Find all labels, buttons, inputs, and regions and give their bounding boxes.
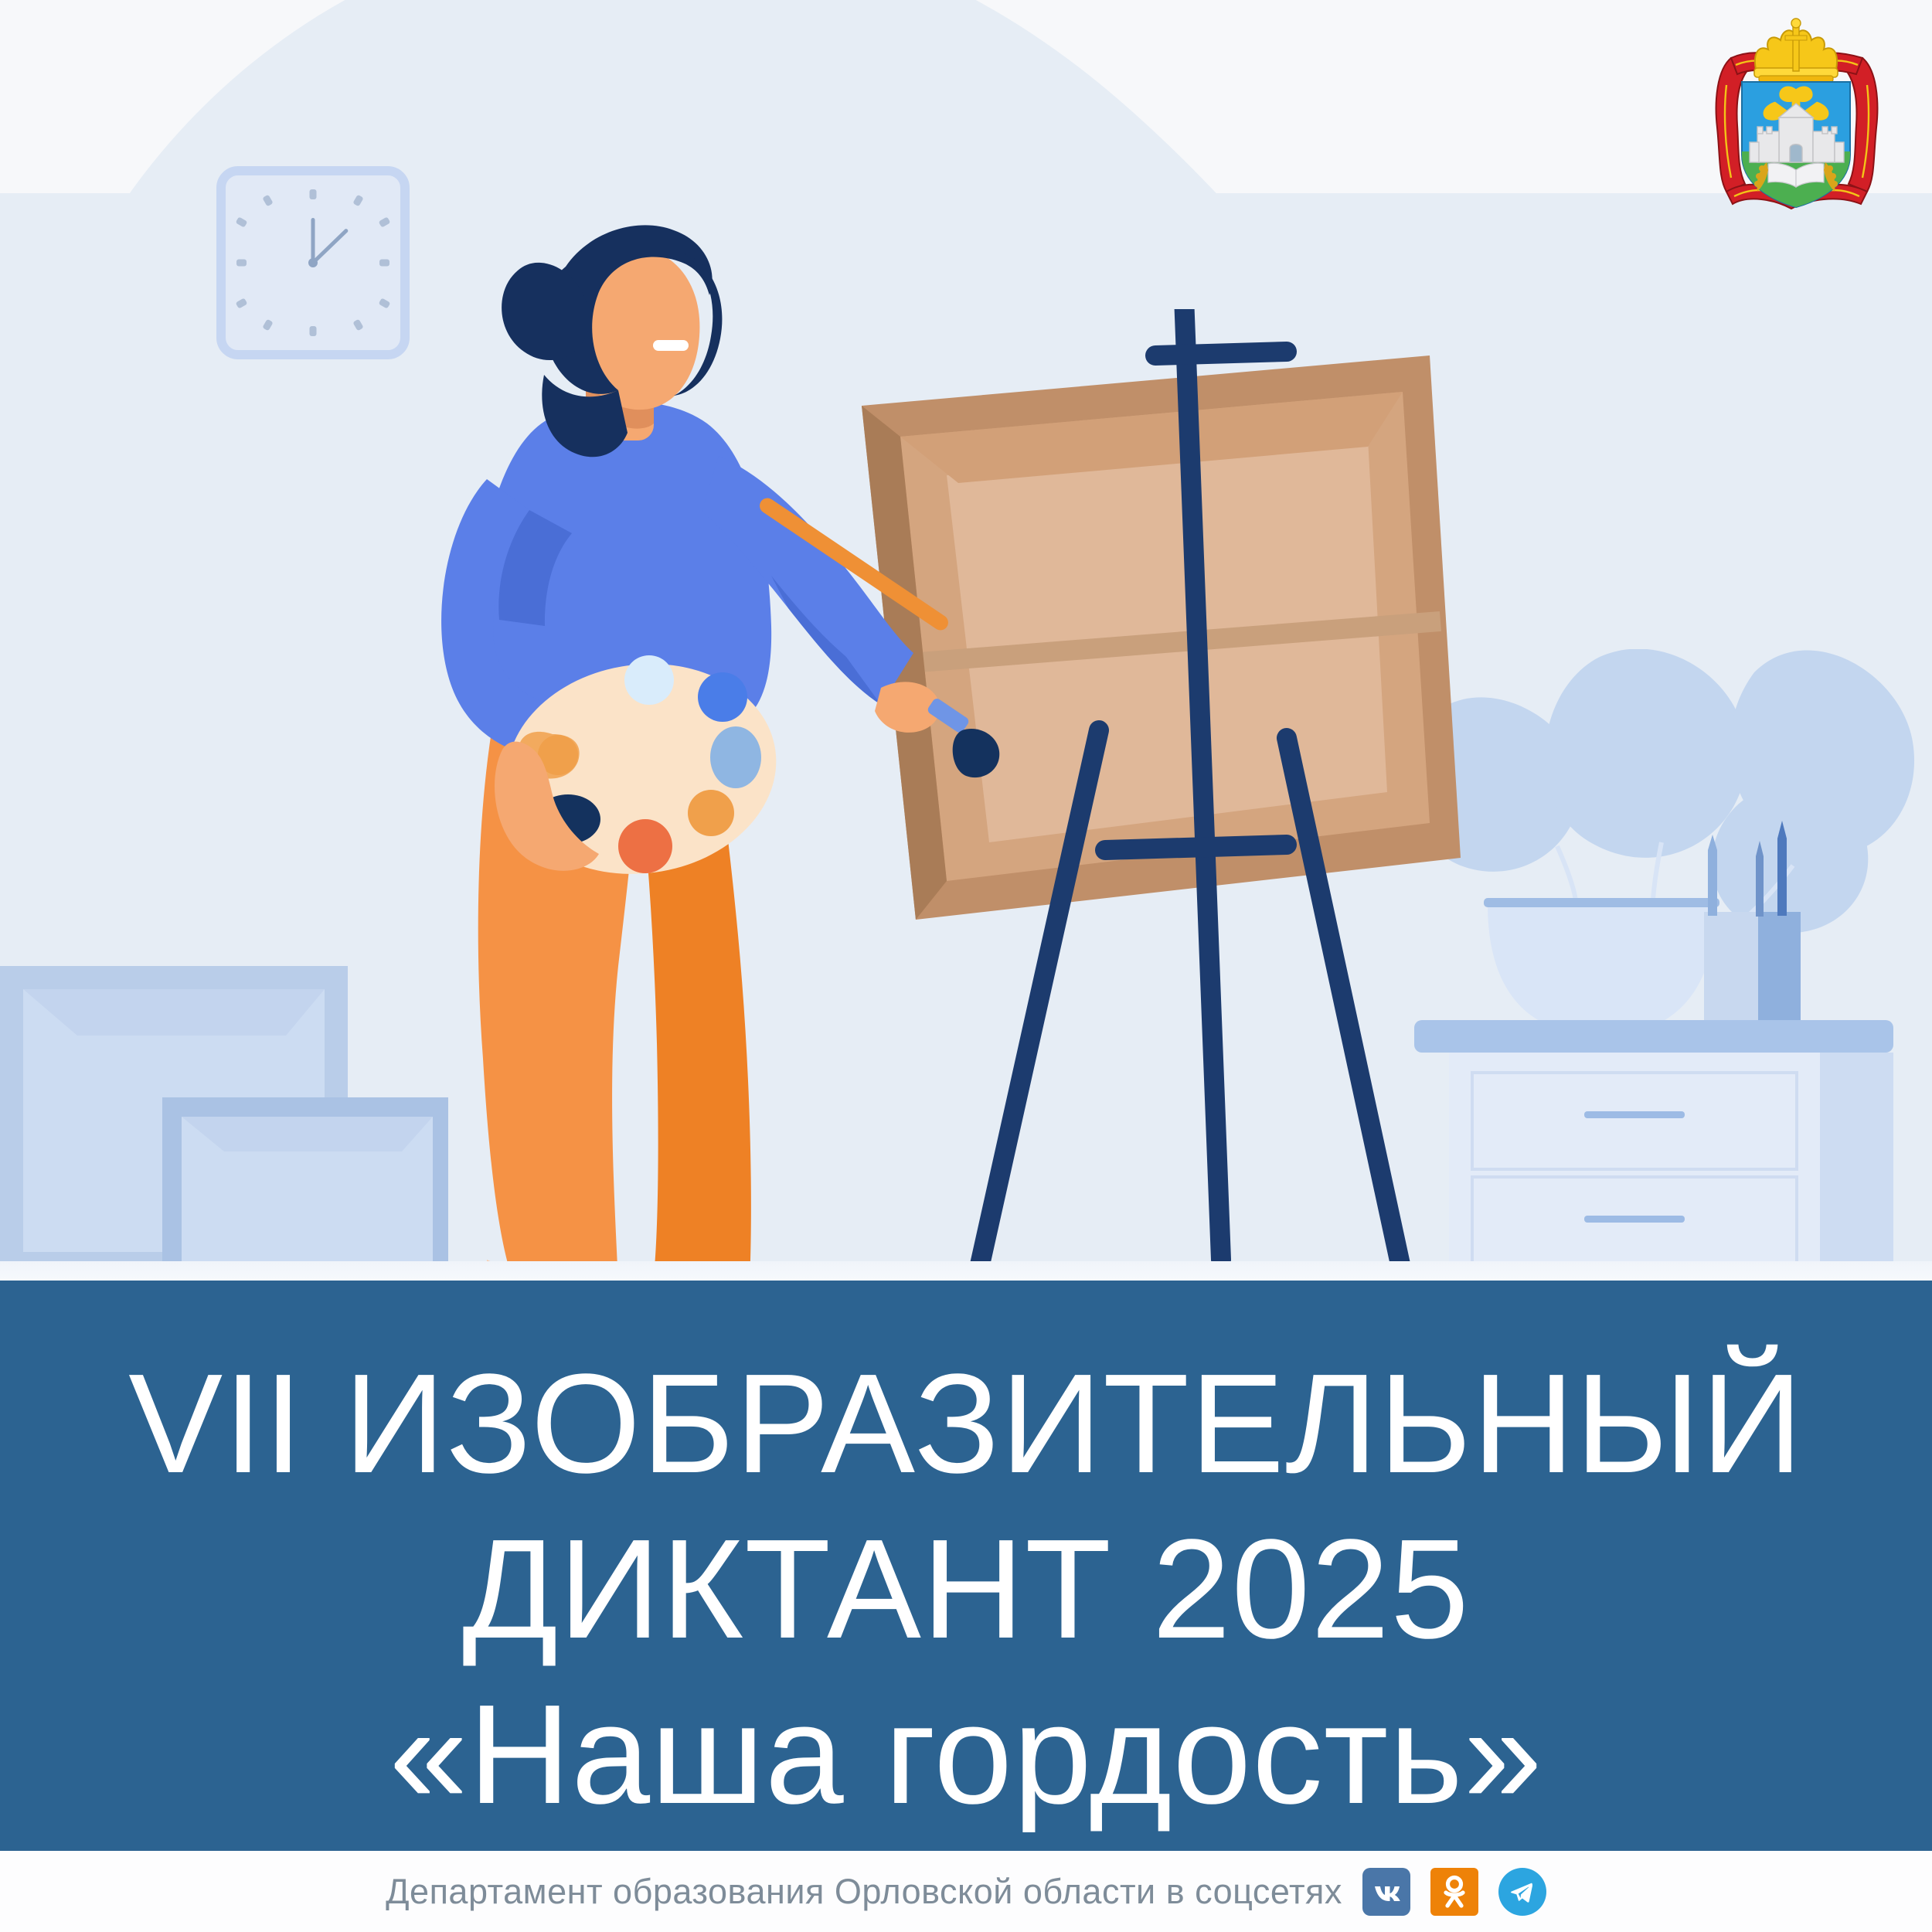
clock-hour-hand (311, 218, 315, 263)
poster-root: VII ИЗОБРАЗИТЕЛЬНЫЙ ДИКТАНТ 2025 «Наша г… (0, 0, 1932, 1932)
vk-icon[interactable] (1362, 1868, 1410, 1916)
artist-figure (386, 224, 1097, 1283)
illustration-scene (0, 0, 1932, 1283)
wall-clock-icon (216, 166, 410, 359)
title-line-1: VII ИЗОБРАЗИТЕЛЬНЫЙ (0, 1341, 1932, 1506)
telegram-icon[interactable] (1498, 1868, 1546, 1916)
title-line-2: ДИКТАНТ 2025 (0, 1506, 1932, 1672)
ok-icon[interactable] (1430, 1868, 1478, 1916)
monstera-plant-icon (1409, 649, 1914, 933)
fade-band (0, 1261, 1932, 1283)
plant-and-cabinet (1406, 649, 1932, 1283)
title-line-3: «Наша гордость» (0, 1672, 1932, 1837)
coat-of-arms-oryol-oblast (1708, 15, 1886, 213)
page-title: VII ИЗОБРАЗИТЕЛЬНЫЙ ДИКТАНТ 2025 «Наша г… (0, 1341, 1932, 1837)
shield (1742, 82, 1850, 207)
footer-bar: Департамент образования Орловской област… (0, 1851, 1932, 1932)
crown-icon (1754, 19, 1838, 82)
clock-minute-hand (311, 228, 349, 264)
footer-text: Департамент образования Орловской област… (386, 1872, 1342, 1912)
